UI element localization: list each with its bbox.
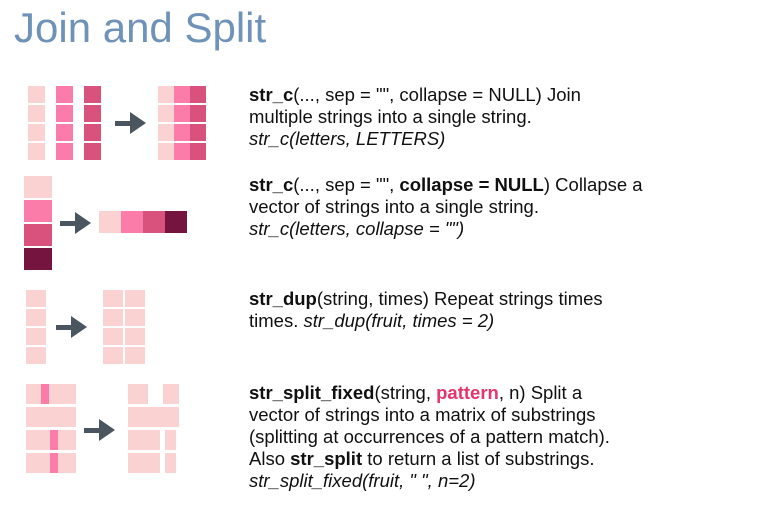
source-separator-marker <box>50 453 58 473</box>
signature-pre: (..., sep = "", <box>293 174 399 195</box>
source-cell <box>24 176 52 198</box>
result-cell <box>125 290 145 307</box>
result-cell <box>125 328 145 345</box>
diagram-column-to-row <box>0 174 240 274</box>
signature-pattern-highlight: pattern <box>436 382 499 403</box>
source-cell <box>26 384 76 404</box>
result-cell <box>165 211 187 233</box>
page-title: Join and Split <box>14 4 266 52</box>
related-function-name: str_split <box>290 448 362 469</box>
result-cell <box>128 453 160 473</box>
description-line: vector of strings into a matrix of subst… <box>249 404 596 425</box>
result-cell <box>143 211 165 233</box>
source-separator-marker <box>50 430 58 450</box>
example-code: str_dup(fruit, times = 2) <box>303 310 494 331</box>
description-line: to return a list of substrings. <box>362 448 594 469</box>
arrow-right-icon <box>60 211 94 235</box>
source-cell <box>24 224 52 246</box>
function-signature: (..., sep = "", collapse = NULL) Join <box>293 84 581 105</box>
result-cell <box>121 211 143 233</box>
result-cell <box>190 124 206 141</box>
diagram-duplicate-column <box>0 288 240 368</box>
source-cell <box>84 86 101 103</box>
arrow-right-icon <box>115 111 149 135</box>
result-cell <box>103 309 123 326</box>
signature-post: , n) Split a <box>499 382 582 403</box>
result-cell <box>158 105 174 122</box>
result-cell <box>190 86 206 103</box>
result-cell <box>128 430 160 450</box>
description-str-dup: str_dup(string, times) Repeat strings ti… <box>249 288 761 332</box>
result-cell <box>125 309 145 326</box>
description-str-split-fixed: str_split_fixed(string, pattern, n) Spli… <box>249 382 761 492</box>
function-name: str_c <box>249 174 293 195</box>
source-cell <box>26 407 76 427</box>
result-cell <box>128 407 179 427</box>
result-cell <box>174 143 190 160</box>
description-line: vector of strings into a single string. <box>249 196 539 217</box>
result-cell <box>103 347 123 364</box>
source-cell <box>28 105 45 122</box>
result-cell <box>190 143 206 160</box>
source-cell <box>28 143 45 160</box>
result-cell <box>125 347 145 364</box>
result-cell <box>174 124 190 141</box>
source-cell <box>84 143 101 160</box>
description-line: (splitting at occurrences of a pattern m… <box>249 426 610 447</box>
example-code: str_split_fixed(fruit, " ", n=2) <box>249 470 475 491</box>
source-cell <box>56 105 73 122</box>
result-cell <box>190 105 206 122</box>
result-cell <box>158 86 174 103</box>
result-cell <box>165 430 176 450</box>
cheatsheet-page: Join and Split <box>0 0 764 526</box>
signature-post: ) Collapse a <box>544 174 643 195</box>
result-cell <box>174 86 190 103</box>
description-line: multiple strings into a single string. <box>249 106 532 127</box>
example-code: str_c(letters, collapse = "") <box>249 218 464 239</box>
signature-bold-arg: collapse = NULL <box>399 174 543 195</box>
result-cell <box>174 105 190 122</box>
result-cell <box>158 124 174 141</box>
source-cell <box>56 124 73 141</box>
result-cell <box>103 290 123 307</box>
source-cell <box>26 347 46 364</box>
source-separator-marker <box>41 384 49 404</box>
source-cell <box>56 143 73 160</box>
result-cell <box>128 384 148 404</box>
function-name: str_dup <box>249 288 317 309</box>
diagram-three-columns-merge <box>0 84 240 164</box>
description-str-c-collapse: str_c(..., sep = "", collapse = NULL) Co… <box>249 174 761 240</box>
arrow-right-icon <box>84 418 118 442</box>
example-code: str_c(letters, LETTERS) <box>249 128 445 149</box>
description-str-c-join: str_c(..., sep = "", collapse = NULL) Jo… <box>249 84 761 150</box>
function-name: str_split_fixed <box>249 382 374 403</box>
source-cell <box>26 328 46 345</box>
description-line: Also <box>249 448 290 469</box>
result-cell <box>103 328 123 345</box>
signature-pre: (string, <box>374 382 436 403</box>
result-cell <box>99 211 121 233</box>
result-cell <box>158 143 174 160</box>
result-cell <box>163 384 179 404</box>
source-cell <box>28 124 45 141</box>
diagram-split-matrix <box>0 382 240 487</box>
function-signature: (string, times) Repeat strings times <box>317 288 603 309</box>
source-cell <box>84 124 101 141</box>
source-cell <box>26 290 46 307</box>
source-cell <box>28 86 45 103</box>
arrow-right-icon <box>56 315 90 339</box>
source-cell <box>24 248 52 270</box>
function-name: str_c <box>249 84 293 105</box>
result-cell <box>165 453 176 473</box>
source-cell <box>24 200 52 222</box>
source-cell <box>56 86 73 103</box>
source-cell <box>26 309 46 326</box>
description-line: times. <box>249 310 303 331</box>
source-cell <box>84 105 101 122</box>
